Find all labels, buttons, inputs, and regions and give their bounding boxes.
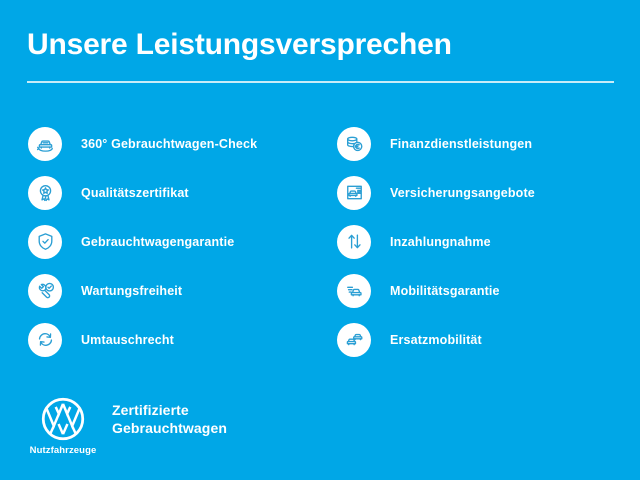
brand-lockup: Nutzfahrzeuge (30, 396, 96, 456)
promise-item-return-right: Umtauschrecht (28, 315, 335, 364)
brand-sublabel: Nutzfahrzeuge (30, 445, 97, 456)
promise-label: Wartungsfreiheit (81, 284, 182, 298)
shield-check-icon (28, 225, 62, 259)
vw-roundel-logo (40, 396, 86, 442)
footer-headline: Zertifizierte Gebrauchtwagen (112, 401, 227, 438)
footer: Nutzfahrzeuge Zertifizierte Gebrauchtwag… (30, 396, 227, 456)
slide-root: Unsere Leistungsversprechen 360° (0, 0, 640, 480)
wrench-check-icon (28, 274, 62, 308)
car-360-check-icon (28, 127, 62, 161)
promise-label: Umtauschrecht (81, 333, 174, 347)
promise-list: 360° Gebrauchtwagen-Check Qualitätszerti… (0, 119, 640, 364)
promise-item-360-check: 360° Gebrauchtwagen-Check (28, 119, 335, 168)
footer-headline-line2: Gebrauchtwagen (112, 419, 227, 437)
car-document-check-icon (337, 176, 371, 210)
promise-item-replacement-mobility: Ersatzmobilität (337, 315, 640, 364)
page-title: Unsere Leistungsversprechen (27, 28, 614, 61)
title-divider (27, 81, 614, 83)
two-cars-icon (337, 323, 371, 357)
promise-item-financial-services: Finanzdienstleistungen (337, 119, 640, 168)
promise-label: Mobilitätsgarantie (390, 284, 500, 298)
award-rosette-icon (28, 176, 62, 210)
promise-label: Qualitätszertifikat (81, 186, 189, 200)
promise-label: Inzahlungnahme (390, 235, 491, 249)
promise-column-right: Finanzdienstleistungen Versicheru (335, 119, 640, 364)
promise-label: Versicherungsangebote (390, 186, 535, 200)
header: Unsere Leistungsversprechen (27, 28, 614, 83)
coins-euro-icon (337, 127, 371, 161)
promise-label: Gebrauchtwagengarantie (81, 235, 234, 249)
promise-label: 360° Gebrauchtwagen-Check (81, 137, 257, 151)
promise-item-mobility-guarantee: Mobilitätsgarantie (337, 266, 640, 315)
promise-item-warranty: Gebrauchtwagengarantie (28, 217, 335, 266)
promise-label: Finanzdienstleistungen (390, 137, 532, 151)
promise-item-maintenance-free: Wartungsfreiheit (28, 266, 335, 315)
exchange-arrows-icon (28, 323, 62, 357)
footer-headline-line1: Zertifizierte (112, 401, 227, 419)
promise-item-insurance-offers: Versicherungsangebote (337, 168, 640, 217)
arrows-up-down-icon (337, 225, 371, 259)
tow-truck-icon (337, 274, 371, 308)
promise-item-quality-certificate: Qualitätszertifikat (28, 168, 335, 217)
promise-column-left: 360° Gebrauchtwagen-Check Qualitätszerti… (0, 119, 335, 364)
promise-label: Ersatzmobilität (390, 333, 482, 347)
promise-item-trade-in: Inzahlungnahme (337, 217, 640, 266)
